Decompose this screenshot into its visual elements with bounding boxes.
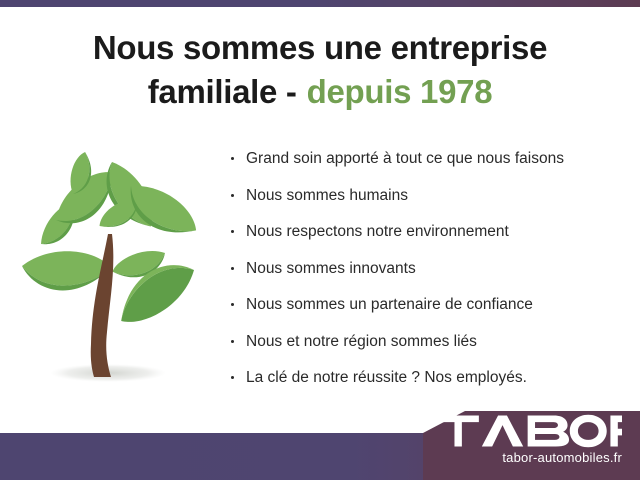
brand-lockup[interactable]: tabor-automobiles.fr <box>436 414 622 465</box>
list-item: Nous sommes humains <box>228 187 628 204</box>
tree-trunk <box>91 234 114 377</box>
list-item: Nous respectons notre environnement <box>228 223 628 240</box>
headline-line-2-accent: depuis 1978 <box>307 73 493 110</box>
headline-line-2-black: familiale - <box>148 73 297 110</box>
list-item: Nous sommes un partenaire de confiance <box>228 296 628 313</box>
list-item: Grand soin apporté à tout ce que nous fa… <box>228 150 628 167</box>
list-item: Nous sommes innovants <box>228 260 628 277</box>
headline-line-1: Nous sommes une entreprise <box>93 29 547 66</box>
tabor-logo <box>436 414 622 448</box>
list-item: Nous et notre région sommes liés <box>228 333 628 350</box>
brand-url: tabor-automobiles.fr <box>436 450 622 465</box>
feature-list: Grand soin apporté à tout ce que nous fa… <box>228 150 628 406</box>
top-accent-bar <box>0 0 640 7</box>
tree-illustration <box>8 148 223 393</box>
page-title: Nous sommes une entreprise familiale -de… <box>0 26 640 114</box>
list-item: La clé de notre réussite ? Nos employés. <box>228 369 628 386</box>
